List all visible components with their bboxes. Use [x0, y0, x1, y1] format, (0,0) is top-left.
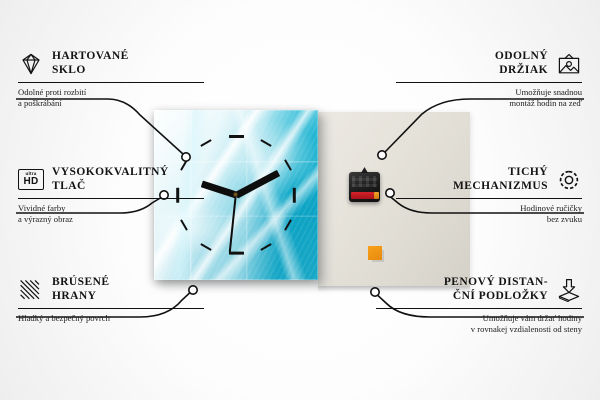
title-line-2: HRANY: [52, 290, 96, 302]
feature-description: Odolné proti rozbití a poškrábání: [18, 87, 204, 108]
title-line-1: HARTOVANÉ: [52, 50, 129, 62]
divider: [18, 198, 204, 199]
feature-header: ultra HD VYSOKOKVALITNÝ TLAČ: [18, 166, 204, 193]
feature-title: HARTOVANÉ SKLO: [52, 50, 129, 77]
desc-line-2: bez zvuku: [547, 214, 582, 224]
clock-center-hub: [233, 192, 238, 197]
feature-description: Umožňuje snadnou montáž hodin na zeď: [396, 87, 582, 108]
feature-header: HARTOVANÉ SKLO: [18, 50, 204, 77]
feature-title: VYSOKOKVALITNÝ TLAČ: [52, 166, 169, 193]
clock-second-hand: [229, 195, 237, 253]
arrow-onto-pad-icon: [556, 278, 582, 302]
clock-tick: [284, 219, 292, 230]
clock-hour-hand: [201, 181, 237, 198]
feature-polished-edges: BRÚSENÉ HRANY Hladký a bezpečný povrch: [18, 276, 204, 324]
ultra-hd-badge-icon: ultra HD: [18, 169, 44, 190]
mechanism-housing-texture: [352, 176, 377, 187]
feature-silent-mechanism: TICHÝ MECHANIZMUS Hodinové ručičky bez z…: [396, 166, 582, 224]
clock-tick: [200, 243, 211, 251]
feature-title: TICHÝ MECHANIZMUS: [453, 166, 548, 193]
clock-minute-hand: [234, 170, 279, 198]
title-line-2: ČNÍ PODLOŽKY: [453, 290, 548, 302]
clock-tick: [293, 187, 296, 202]
feature-title: PENOVÝ DISTAN- ČNÍ PODLOŽKY: [444, 276, 548, 303]
divider: [18, 82, 204, 83]
title-line-1: ODOLNÝ: [495, 50, 548, 62]
feature-header: TICHÝ MECHANIZMUS: [396, 166, 582, 193]
desc-line-1: Hodinové ručičky: [520, 203, 582, 213]
gear-icon: [556, 168, 582, 192]
battery: [351, 192, 376, 199]
clock-tick: [260, 243, 271, 251]
clock-mechanism: [349, 172, 380, 202]
feature-durable-mount: ODOLNÝ DRŽIAK Umožňuje snadnou montáž ho…: [396, 50, 582, 108]
feature-hardened-glass: HARTOVANÉ SKLO Odolné proti rozbití a po…: [18, 50, 204, 108]
divider: [396, 82, 582, 83]
feature-title: ODOLNÝ DRŽIAK: [495, 50, 548, 77]
badge-big-text: HD: [23, 177, 38, 187]
feature-header: ODOLNÝ DRŽIAK: [396, 50, 582, 77]
title-line-1: TICHÝ: [508, 166, 548, 178]
divider: [376, 308, 582, 309]
divider: [396, 198, 582, 199]
desc-line-1: Umožňuje vám držať hodiny: [483, 313, 582, 323]
divider: [18, 308, 204, 309]
desc-line-1: Vividné farby: [18, 203, 65, 213]
title-line-1: BRÚSENÉ: [52, 276, 109, 288]
diamond-icon: [18, 52, 44, 76]
desc-line-2: v rovnakej vzdialenosti od steny: [471, 324, 582, 334]
clock-tick: [200, 139, 211, 147]
title-line-2: MECHANIZMUS: [453, 180, 548, 192]
feature-header: BRÚSENÉ HRANY: [18, 276, 204, 303]
feature-header: PENOVÝ DISTAN- ČNÍ PODLOŽKY: [376, 276, 582, 303]
clock-tick: [229, 135, 244, 138]
infographic-canvas: HARTOVANÉ SKLO Odolné proti rozbití a po…: [0, 0, 600, 400]
feature-foam-spacers: PENOVÝ DISTAN- ČNÍ PODLOŽKY Umožňuje vám…: [376, 276, 582, 334]
picture-frame-icon: [556, 52, 582, 76]
feature-description: Hodinové ručičky bez zvuku: [396, 203, 582, 224]
desc-line-2: montáž hodin na zeď: [509, 98, 582, 108]
feature-description: Umožňuje vám držať hodiny v rovnakej vzd…: [376, 313, 582, 334]
desc-line-1: Odolné proti rozbití: [18, 87, 86, 97]
foam-spacer-pad: [368, 246, 382, 260]
clock-tick: [260, 139, 271, 147]
title-line-1: VYSOKOKVALITNÝ: [52, 166, 169, 178]
desc-line-1: Umožňuje snadnou: [515, 87, 582, 97]
feature-title: BRÚSENÉ HRANY: [52, 276, 109, 303]
feature-description: Hladký a bezpečný povrch: [18, 313, 204, 324]
title-line-2: DRŽIAK: [499, 64, 548, 76]
title-line-2: SKLO: [52, 64, 86, 76]
desc-line-1: Hladký a bezpečný povrch: [18, 313, 110, 323]
desc-line-2: a výrazný obraz: [18, 214, 73, 224]
feature-high-quality-print: ultra HD VYSOKOKVALITNÝ TLAČ Vividné far…: [18, 166, 204, 224]
hatched-edge-icon: [18, 278, 44, 302]
title-line-2: TLAČ: [52, 180, 86, 192]
title-line-1: PENOVÝ DISTAN-: [444, 276, 548, 288]
feature-description: Vividné farby a výrazný obraz: [18, 203, 204, 224]
desc-line-2: a poškrábání: [18, 98, 62, 108]
clock-tick: [284, 159, 292, 170]
clock-tick: [229, 252, 244, 255]
